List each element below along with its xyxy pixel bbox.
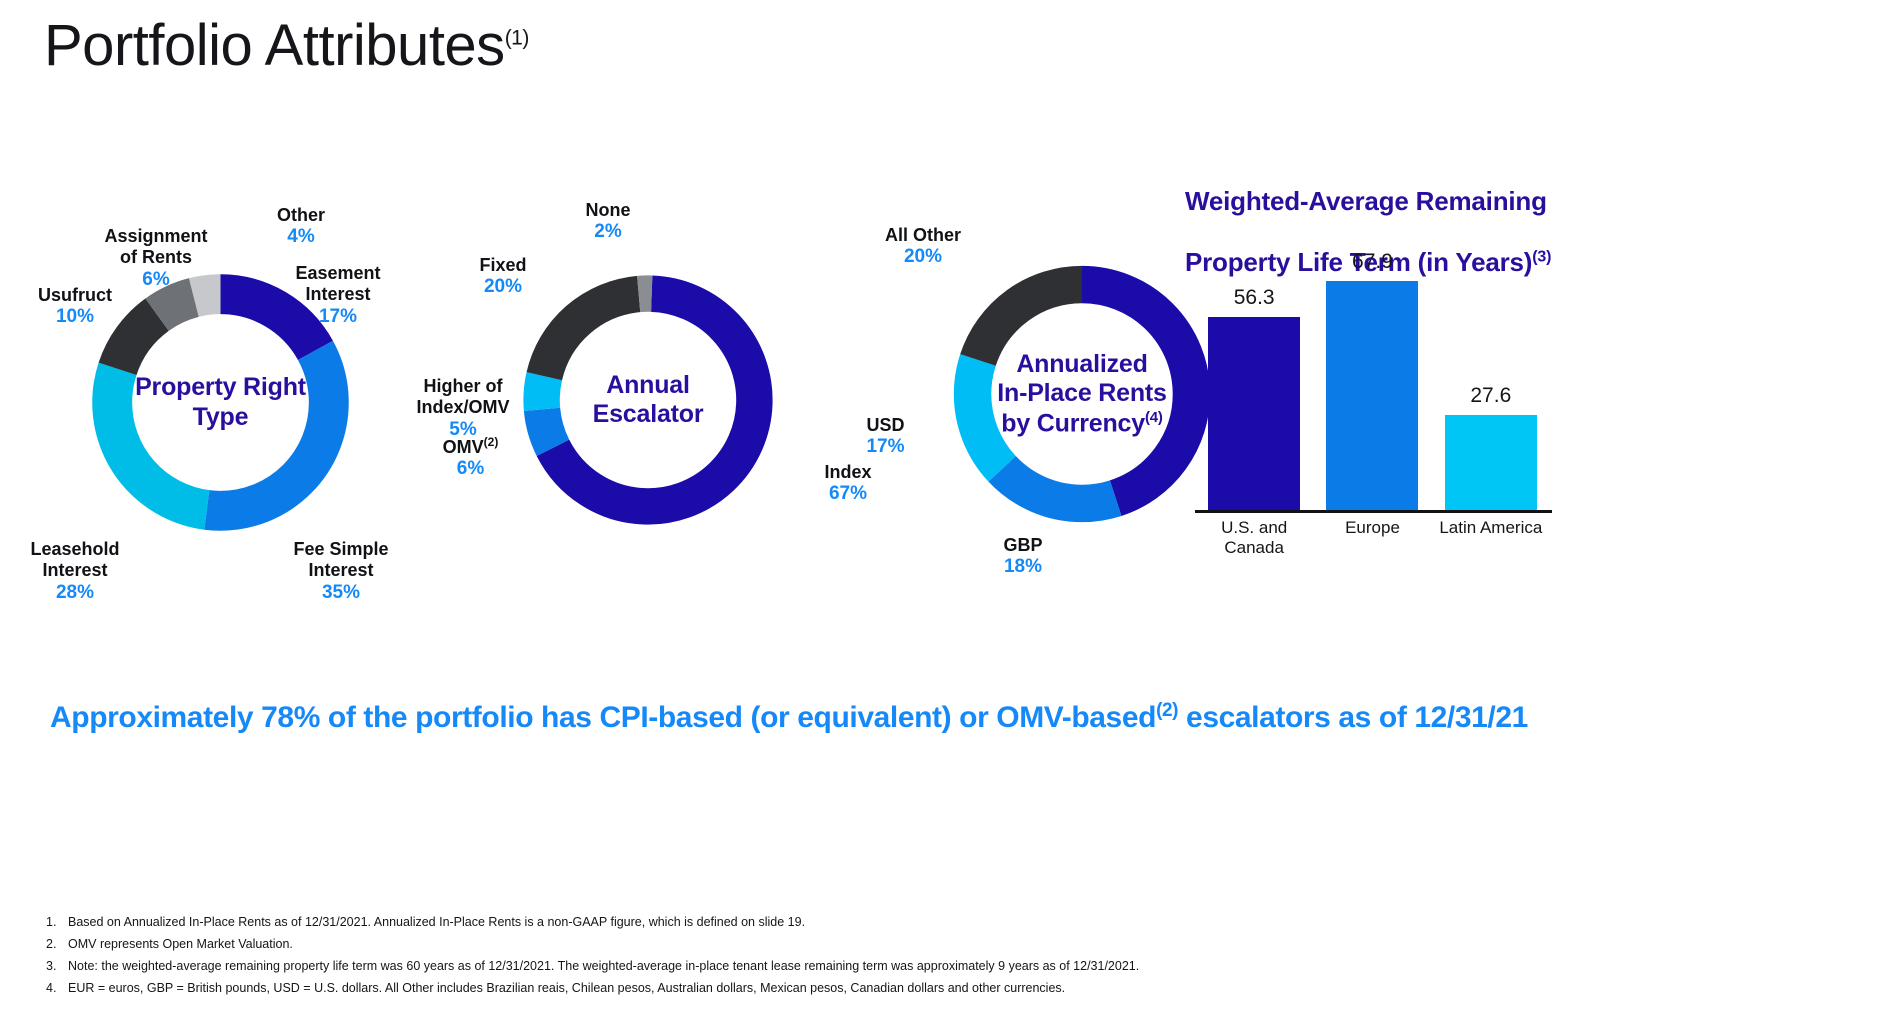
slide: Portfolio Attributes(1) [0, 0, 1894, 1012]
label-omv-superscript: (2) [484, 435, 499, 449]
label-usufruct: Usufruct 10% [20, 285, 130, 329]
banner-prefix: Approximately 78% of the portfolio has C… [50, 701, 1156, 734]
donut-chart-currency: Annualized In-Place Rents by Currency(4)… [938, 250, 1226, 538]
footnotes: 1. Based on Annualized In-Place Rents as… [46, 915, 1546, 1004]
label-leasehold-interest: Leasehold Interest 28% [10, 518, 140, 625]
footnote-number: 1. [46, 915, 68, 931]
footnote-number: 2. [46, 937, 68, 953]
label-omv: OMV(2) 6% [423, 435, 518, 481]
bar-value-label: 56.3 [1234, 286, 1275, 310]
page-title: Portfolio Attributes(1) [44, 14, 529, 78]
bar-rect [1445, 415, 1537, 510]
axis-label-latin-america: Latin America [1432, 518, 1550, 558]
charts-row: Property Right Type Other 4% Assignment … [0, 140, 1894, 570]
page-title-superscript: (1) [505, 27, 529, 50]
bar-chart-axis-line [1195, 510, 1552, 513]
highlight-banner: Approximately 78% of the portfolio has C… [50, 700, 1528, 735]
footnote-text: Note: the weighted-average remaining pro… [68, 959, 1546, 975]
label-gbp: GBP 18% [973, 535, 1073, 579]
banner-suffix: escalators as of 12/31/21 [1178, 701, 1528, 734]
donut-svg-currency [938, 250, 1226, 538]
label-none: None 2% [553, 200, 663, 244]
footnote-number: 3. [46, 959, 68, 975]
label-index: Index 67% [798, 462, 898, 506]
footnote-text: OMV represents Open Market Valuation. [68, 937, 1546, 953]
label-fee-simple-interest: Fee Simple Interest 35% [276, 518, 406, 625]
bar-rect [1326, 281, 1418, 510]
bar-series: 56.3 67.9 27.6 [1195, 250, 1550, 510]
footnote-2: 2. OMV represents Open Market Valuation. [46, 937, 1546, 953]
bar-chart-axis-labels: U.S. and Canada Europe Latin America [1195, 518, 1550, 558]
axis-label-europe: Europe [1313, 518, 1431, 558]
label-all-other: All Other 20% [863, 225, 983, 269]
label-usd: USD 17% [838, 415, 933, 459]
donut-chart-annual-escalator: Annual Escalator None 2% Fixed 20% Highe… [508, 260, 788, 540]
bar-col-us-and-canada: 56.3 [1208, 250, 1300, 510]
label-fixed: Fixed 20% [448, 255, 558, 299]
bar-value-label: 27.6 [1470, 384, 1511, 408]
footnote-text: Based on Annualized In-Place Rents as of… [68, 915, 1546, 931]
footnote-text: EUR = euros, GBP = British pounds, USD =… [68, 981, 1546, 997]
banner-superscript: (2) [1156, 700, 1178, 721]
footnote-3: 3. Note: the weighted-average remaining … [46, 959, 1546, 975]
footnote-1: 1. Based on Annualized In-Place Rents as… [46, 915, 1546, 931]
bar-col-latin-america: 27.6 [1445, 250, 1537, 510]
footnote-4: 4. EUR = euros, GBP = British pounds, US… [46, 981, 1546, 997]
donut-svg-annual-escalator [508, 260, 788, 540]
donut-chart-property-right-type: Property Right Type Other 4% Assignment … [78, 260, 363, 545]
footnote-number: 4. [46, 981, 68, 997]
axis-label-us-and-canada: U.S. and Canada [1195, 518, 1313, 558]
bar-chart-property-life-term: Weighted-Average Remaining Property Life… [1185, 155, 1865, 555]
bar-rect [1208, 317, 1300, 510]
bar-col-europe: 67.9 [1326, 250, 1418, 510]
page-title-text: Portfolio Attributes [44, 13, 505, 78]
label-easement-interest: Easement Interest 17% [273, 242, 403, 349]
bar-value-label: 67.9 [1352, 250, 1393, 274]
bar-plot: 56.3 67.9 27.6 [1195, 250, 1550, 510]
